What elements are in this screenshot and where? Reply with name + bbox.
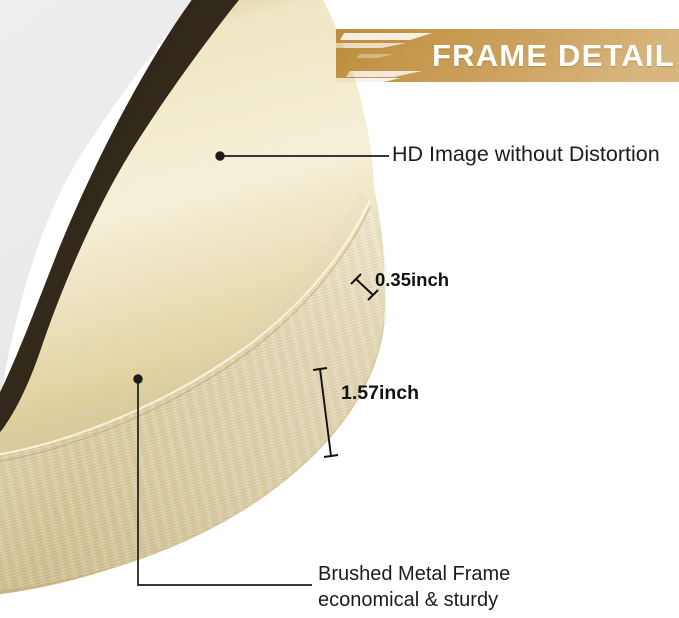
product-detail-image: FRAME DETAIL HD Image without Distortion… xyxy=(0,0,679,618)
callout-label-hd-image: HD Image without Distortion xyxy=(392,141,660,169)
dimension-label-thickness: 0.35inch xyxy=(375,268,449,292)
callout-label-brushed-metal-line1: Brushed Metal Frame xyxy=(318,563,510,585)
frame-illustration xyxy=(0,0,679,618)
callout-label-brushed-metal: Brushed Metal Frame economical & sturdy xyxy=(318,562,510,613)
frame-photo xyxy=(0,0,679,618)
frame-detail-banner: FRAME DETAIL xyxy=(336,27,679,84)
callout-label-brushed-metal-line2: economical & sturdy xyxy=(318,588,510,614)
banner-title: FRAME DETAIL xyxy=(432,38,675,74)
dimension-label-depth: 1.57inch xyxy=(341,381,419,406)
